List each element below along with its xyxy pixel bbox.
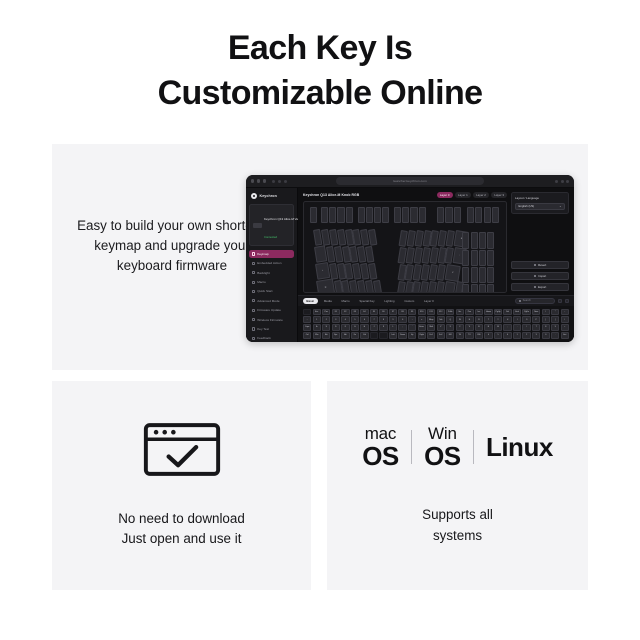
tab-special-key[interactable]: Special Key bbox=[356, 298, 378, 304]
keyboard-thumbnail-icon bbox=[253, 223, 262, 228]
windows-suffix: OS bbox=[424, 443, 461, 469]
palette-key[interactable]: - bbox=[408, 316, 416, 323]
palette-key[interactable]: H bbox=[360, 324, 368, 331]
tab-basic[interactable]: Basic bbox=[303, 298, 318, 304]
palette-key[interactable]: F12 bbox=[437, 309, 445, 316]
browser-url-text: launcher.keychron.com bbox=[393, 179, 427, 183]
badge-divider-1 bbox=[411, 430, 412, 464]
sidebar-item-label: Firmware Update bbox=[257, 308, 281, 312]
palette-key[interactable]: L bbox=[389, 324, 397, 331]
os-support-caption: Supports all systems bbox=[422, 505, 493, 546]
palette-key[interactable]: G bbox=[351, 324, 359, 331]
os-support-line-2: systems bbox=[422, 526, 493, 546]
device-status: Connected bbox=[264, 236, 277, 239]
palette-key[interactable]: 3 bbox=[332, 316, 340, 323]
brand: Keychron bbox=[249, 192, 294, 202]
layer-chip-1[interactable]: Layer 1 bbox=[455, 192, 471, 198]
layout-language-panel: Layout / Language English (US) ⌄ bbox=[511, 192, 569, 214]
keyboard-key[interactable] bbox=[365, 246, 375, 263]
palette-key[interactable]: 4 bbox=[341, 316, 349, 323]
palette-key[interactable]: U bbox=[503, 316, 511, 323]
search-area: Search bbox=[515, 298, 569, 305]
palette-key[interactable]: PgDn bbox=[522, 309, 530, 316]
windows-prefix: Win bbox=[428, 425, 457, 442]
palette-key[interactable]: Up bbox=[408, 332, 416, 339]
palette-key[interactable]: Ctrl bbox=[303, 332, 311, 339]
sidebar-item-label: Advanced Mode bbox=[257, 299, 279, 303]
keyboard-key[interactable] bbox=[368, 263, 378, 280]
export-icon bbox=[534, 286, 536, 288]
palette-key[interactable]: Win bbox=[313, 332, 321, 339]
palette-key[interactable]: A bbox=[313, 324, 321, 331]
palette-key[interactable]: End bbox=[513, 309, 521, 316]
keyboard-key[interactable] bbox=[310, 207, 317, 223]
keyboard-key[interactable] bbox=[471, 250, 478, 266]
palette-key[interactable]: Fn1 bbox=[427, 332, 435, 339]
keyboard-key[interactable] bbox=[368, 229, 378, 246]
browser-titlebar: launcher.keychron.com bbox=[246, 175, 574, 188]
macro-icon bbox=[252, 281, 255, 284]
macos-suffix: OS bbox=[362, 443, 399, 469]
export-label: Export bbox=[538, 285, 546, 289]
palette-key[interactable]: Pse bbox=[465, 309, 473, 316]
export-button[interactable]: Export bbox=[511, 283, 569, 291]
keyboard-key[interactable] bbox=[443, 281, 456, 292]
keyboard-key[interactable] bbox=[382, 207, 389, 223]
palette-key[interactable]: Ent bbox=[561, 332, 569, 339]
layer-chip-0[interactable]: Layer 0 bbox=[437, 192, 453, 198]
sidebar-item-label: Feedback bbox=[257, 336, 271, 340]
keyboard-keys[interactable]: =Q[S;Z bbox=[310, 207, 500, 287]
palette-key[interactable]: - bbox=[561, 309, 569, 316]
palette-key[interactable]: Q bbox=[446, 316, 454, 323]
revert-label: Revert bbox=[538, 263, 546, 267]
layout-language-label: Layout / Language bbox=[515, 196, 565, 200]
keyboard-key[interactable] bbox=[329, 207, 336, 223]
keyboard-key[interactable] bbox=[467, 207, 474, 223]
tab-layer[interactable]: Layer 0 bbox=[421, 298, 437, 304]
wireless-firmware-icon bbox=[252, 318, 255, 321]
palette-key[interactable]: F4 bbox=[360, 309, 368, 316]
keyboard-key[interactable] bbox=[479, 232, 486, 248]
keyboard-key[interactable] bbox=[462, 267, 469, 283]
launcher-sidebar: Keychron Keychron Q13 Alice-M Ver... Con… bbox=[246, 188, 298, 342]
palette-key[interactable]: 8 bbox=[379, 316, 387, 323]
no-download-line-1: No need to download bbox=[118, 509, 245, 529]
inspector-panel: Layout / Language English (US) ⌄ Revert bbox=[511, 192, 569, 293]
palette-key[interactable]: 4 bbox=[484, 332, 492, 339]
keyboard-key[interactable] bbox=[373, 280, 383, 292]
palette-key[interactable]: [ bbox=[542, 316, 550, 323]
keyboard-key[interactable] bbox=[394, 207, 401, 223]
language-select[interactable]: English (US) ⌄ bbox=[515, 203, 565, 210]
palette-key[interactable]: Z bbox=[437, 324, 445, 331]
sidebar-item-label: Quick Start bbox=[257, 289, 272, 293]
sidebar-item-macro[interactable]: Macro bbox=[249, 279, 294, 286]
palette-key[interactable]: X bbox=[446, 324, 454, 331]
badge-divider-2 bbox=[473, 430, 474, 464]
palette-key[interactable]: 7 bbox=[532, 324, 540, 331]
palette-key[interactable]: Ctrl bbox=[360, 332, 368, 339]
palette-key[interactable]: 1 bbox=[313, 316, 321, 323]
sidebar-item-embedded-action[interactable]: Embedded Action bbox=[249, 260, 294, 267]
palette-key[interactable]: OSL bbox=[475, 332, 483, 339]
page-title-line-2: Customizable Online bbox=[0, 71, 640, 116]
browser-window-checkmark-icon bbox=[142, 422, 222, 477]
language-select-value: English (US) bbox=[519, 204, 535, 208]
device-name: Keychron Q13 Alice-M Ver... bbox=[264, 217, 302, 221]
import-icon bbox=[534, 275, 536, 277]
keyboard-key[interactable] bbox=[437, 207, 444, 223]
inspector-actions: Revert Import Export bbox=[511, 261, 569, 293]
palette-key[interactable]: + bbox=[561, 324, 569, 331]
tab-custom[interactable]: Custom bbox=[401, 298, 418, 304]
keyboard-key[interactable] bbox=[487, 284, 494, 293]
page-title: Each Key Is Customizable Online bbox=[0, 26, 640, 116]
palette-key[interactable]: I bbox=[513, 316, 521, 323]
keyboard-key[interactable] bbox=[445, 207, 452, 223]
feedback-icon bbox=[252, 337, 255, 340]
palette-key-empty bbox=[303, 309, 311, 316]
layer-chip-2[interactable]: Layer 2 bbox=[473, 192, 489, 198]
embedded-action-icon bbox=[252, 262, 255, 265]
palette-key[interactable]: S bbox=[322, 324, 330, 331]
palette-key[interactable]: F3 bbox=[351, 309, 359, 316]
palette-key[interactable]: V bbox=[465, 324, 473, 331]
sidebar-item-key-test[interactable]: Key Test bbox=[249, 325, 294, 332]
sidebar-item-backlight[interactable]: Backlight bbox=[249, 269, 294, 276]
launcher-body: Keychron Keychron Q13 Alice-M Ver... Con… bbox=[246, 188, 574, 342]
import-label: Import bbox=[538, 274, 546, 278]
palette-key[interactable]: PgUp bbox=[494, 309, 502, 316]
feature-card-launcher: Easy to build your own shortcut, keymap … bbox=[52, 144, 588, 370]
sidebar-item-label: Wireless Firmware bbox=[257, 318, 283, 322]
keyboard-key[interactable] bbox=[462, 232, 469, 248]
palette-key[interactable]: Right bbox=[418, 332, 426, 339]
palette-key[interactable]: Pwr bbox=[322, 309, 330, 316]
keymap-workspace: Keychron Q13 Alice-M Knob RGB Layer 0 La… bbox=[298, 188, 574, 295]
keyboard-key[interactable] bbox=[479, 267, 486, 283]
palette-key[interactable]: 3 bbox=[532, 332, 540, 339]
palette-key[interactable]: F5 bbox=[370, 309, 378, 316]
palette-key[interactable]: Alt bbox=[341, 332, 349, 339]
tab-media[interactable]: Media bbox=[321, 298, 336, 304]
palette-key[interactable]: . bbox=[513, 324, 521, 331]
keyboard-key[interactable] bbox=[346, 207, 353, 223]
palette-key[interactable]: 5 bbox=[351, 316, 359, 323]
palette-key[interactable]: F2 bbox=[341, 309, 349, 316]
palette-key[interactable]: ] bbox=[551, 316, 559, 323]
palette-key[interactable]: 2 bbox=[322, 316, 330, 323]
keyboard-header: Keychron Q13 Alice-M Knob RGB Layer 0 La… bbox=[303, 192, 507, 198]
os-badges: mac OS Win OS Linux bbox=[362, 425, 553, 469]
palette-key[interactable]: Enter bbox=[418, 324, 426, 331]
connected-device-card[interactable]: Keychron Q13 Alice-M Ver... Connected bbox=[249, 204, 294, 246]
device-meta: Keychron Q13 Alice-M Ver... Connected bbox=[264, 207, 291, 243]
keyboard-key[interactable] bbox=[475, 207, 482, 223]
palette-key[interactable]: K bbox=[379, 324, 387, 331]
keyboard-key[interactable]: Q bbox=[316, 279, 335, 293]
palette-key[interactable]: F9 bbox=[408, 309, 416, 316]
no-download-caption: No need to download Just open and use it bbox=[118, 509, 245, 550]
palette-key[interactable]: Down bbox=[398, 332, 406, 339]
palette-key[interactable]: F6 bbox=[379, 309, 387, 316]
palette-key[interactable]: 9 bbox=[551, 324, 559, 331]
page-title-line-1: Each Key Is bbox=[0, 26, 640, 71]
sidebar-item-label: Macro bbox=[257, 280, 266, 284]
search-placeholder: Search bbox=[523, 299, 531, 302]
key-test-icon bbox=[252, 327, 255, 330]
layer-chip-3[interactable]: Layer 3 bbox=[491, 192, 507, 198]
palette-key[interactable]: Spc bbox=[332, 332, 340, 339]
keyboard-key[interactable] bbox=[358, 207, 365, 223]
keycode-category-tabs: Basic Media Macro Special Key Lighting C… bbox=[298, 295, 574, 307]
palette-key[interactable]: 5 bbox=[494, 332, 502, 339]
palette-key-empty bbox=[370, 332, 378, 339]
palette-key[interactable]: Tab bbox=[437, 316, 445, 323]
sidebar-item-quick-start[interactable]: Quick Start bbox=[249, 288, 294, 295]
palette-key[interactable]: E bbox=[465, 316, 473, 323]
keyboard-key[interactable] bbox=[471, 284, 478, 293]
palette-key[interactable]: PrtSc bbox=[446, 309, 454, 316]
windows-badge: Win OS bbox=[424, 425, 461, 469]
palette-key[interactable]: 9 bbox=[389, 316, 397, 323]
keyboard-key[interactable] bbox=[462, 250, 469, 266]
palette-key[interactable]: 6 bbox=[503, 332, 511, 339]
palette-key[interactable]: Left bbox=[389, 332, 397, 339]
keyboard-key[interactable]: Z bbox=[444, 264, 461, 283]
palette-key[interactable]: 6 bbox=[360, 316, 368, 323]
palette-key[interactable]: Scr bbox=[456, 309, 464, 316]
palette-key[interactable]: C bbox=[456, 324, 464, 331]
palette-key[interactable]: / bbox=[522, 324, 530, 331]
sidebar-item-advanced-mode[interactable]: Advanced Mode bbox=[249, 297, 294, 304]
browser-url-bar[interactable]: launcher.keychron.com bbox=[336, 177, 484, 185]
palette-key[interactable]: 0 bbox=[542, 332, 550, 339]
palette-key[interactable]: . bbox=[551, 332, 559, 339]
keyboard-key[interactable] bbox=[366, 207, 373, 223]
feature-card-no-download: No need to download Just open and use it bbox=[52, 381, 311, 590]
palette-key[interactable]: 7 bbox=[370, 316, 378, 323]
palette-key[interactable]: 2 bbox=[522, 332, 530, 339]
keychron-logo-icon bbox=[251, 193, 257, 199]
palette-key[interactable]: F8 bbox=[398, 309, 406, 316]
palette-key[interactable]: = bbox=[418, 316, 426, 323]
palette-key[interactable]: TG bbox=[456, 332, 464, 339]
palette-key[interactable]: F10 bbox=[418, 309, 426, 316]
palette-key[interactable]: N bbox=[484, 324, 492, 331]
search-icon bbox=[519, 300, 522, 303]
palette-key[interactable]: Shift bbox=[427, 324, 435, 331]
keyboard-model-title: Keychron Q13 Alice-M Knob RGB bbox=[303, 193, 359, 197]
palette-key[interactable]: Fn bbox=[351, 332, 359, 339]
sidebar-item-feedback[interactable]: Feedback bbox=[249, 335, 294, 342]
keyboard-layout-stage[interactable]: =Q[S;Z bbox=[303, 201, 507, 293]
sidebar-item-label: Embedded Action bbox=[257, 261, 281, 265]
sidebar-item-firmware-update[interactable]: Firmware Update bbox=[249, 307, 294, 314]
layer-selector[interactable]: Layer 0 Layer 1 Layer 2 Layer 3 bbox=[437, 192, 507, 198]
palette-key[interactable]: 1 bbox=[513, 332, 521, 339]
palette-key[interactable]: MO bbox=[446, 332, 454, 339]
import-button[interactable]: Import bbox=[511, 272, 569, 280]
palette-key[interactable]: D bbox=[332, 324, 340, 331]
keymap-icon bbox=[252, 252, 255, 255]
keyboard-key[interactable] bbox=[487, 232, 494, 248]
palette-key[interactable]: Esc bbox=[313, 309, 321, 316]
keyboard-key[interactable] bbox=[484, 207, 491, 223]
keyboard-key[interactable] bbox=[479, 250, 486, 266]
palette-key[interactable]: ; bbox=[398, 324, 406, 331]
palette-key[interactable]: Alt bbox=[322, 332, 330, 339]
palette-key[interactable]: \ bbox=[561, 316, 569, 323]
palette-key[interactable]: M bbox=[494, 324, 502, 331]
backlight-icon bbox=[252, 271, 255, 274]
keyboard-key[interactable] bbox=[471, 232, 478, 248]
brand-label: Keychron bbox=[260, 194, 277, 198]
palette-key[interactable]: Caps bbox=[303, 324, 311, 331]
keyboard-key[interactable] bbox=[487, 267, 494, 283]
palette-key[interactable]: W bbox=[456, 316, 464, 323]
palette-key[interactable]: ~ bbox=[303, 316, 311, 323]
keyboard-key[interactable] bbox=[471, 267, 478, 283]
palette-key[interactable]: Fn2 bbox=[437, 332, 445, 339]
palette-key[interactable]: Home bbox=[484, 309, 492, 316]
palette-key[interactable]: O bbox=[522, 316, 530, 323]
palette-key[interactable]: B bbox=[475, 324, 483, 331]
sidebar-item-label: Backlight bbox=[257, 271, 270, 275]
os-support-line-1: Supports all bbox=[422, 505, 493, 525]
keyboard-key[interactable] bbox=[492, 207, 499, 223]
palette-key[interactable]: J bbox=[370, 324, 378, 331]
palette-key[interactable]: 8 bbox=[542, 324, 550, 331]
sidebar-item-label: Keymap bbox=[257, 252, 268, 256]
palette-key[interactable]: Del bbox=[503, 309, 511, 316]
keyboard-key[interactable] bbox=[337, 207, 344, 223]
keychron-launcher-screenshot: launcher.keychron.com Keychron Keychron … bbox=[246, 175, 574, 342]
launcher-main: Keychron Q13 Alice-M Knob RGB Layer 0 La… bbox=[298, 188, 574, 342]
sidebar-item-label: Key Test bbox=[257, 327, 269, 331]
palette-key[interactable]: Y bbox=[494, 316, 502, 323]
browser-window-controls-icon[interactable] bbox=[555, 180, 569, 183]
feature-card-os-support: mac OS Win OS Linux Supports all systems bbox=[327, 381, 588, 590]
linux-badge: Linux bbox=[486, 432, 553, 463]
sidebar-item-wireless-firmware[interactable]: Wireless Firmware bbox=[249, 316, 294, 323]
palette-key[interactable]: T bbox=[484, 316, 492, 323]
traffic-lights-icon[interactable] bbox=[251, 179, 266, 182]
zoom-icon[interactable] bbox=[565, 299, 570, 304]
palette-key[interactable]: TO bbox=[465, 332, 473, 339]
keyboard-key[interactable] bbox=[487, 250, 494, 266]
keyboard-key[interactable] bbox=[454, 207, 461, 223]
macos-badge: mac OS bbox=[362, 425, 399, 469]
keyboard-key[interactable] bbox=[462, 284, 469, 293]
tab-lighting[interactable]: Lighting bbox=[381, 298, 398, 304]
sidebar-item-keymap[interactable]: Keymap bbox=[249, 250, 294, 257]
browser-nav-icons[interactable] bbox=[272, 180, 287, 183]
palette-key[interactable]: Num bbox=[532, 309, 540, 316]
macos-prefix: mac bbox=[365, 425, 397, 442]
keycode-palette[interactable]: EscPwrF1F2F3F4F5F6F7F8F9F10F11F12PrtScSc… bbox=[298, 306, 574, 342]
keyboard-key[interactable] bbox=[402, 207, 409, 223]
keyboard-icon[interactable] bbox=[558, 299, 563, 304]
quick-start-icon bbox=[252, 290, 255, 293]
advanced-mode-icon bbox=[252, 299, 255, 302]
palette-key[interactable]: , bbox=[503, 324, 511, 331]
revert-icon bbox=[534, 264, 536, 266]
palette-key[interactable]: F bbox=[341, 324, 349, 331]
palette-key[interactable]: ' bbox=[408, 324, 416, 331]
palette-key[interactable]: R bbox=[475, 316, 483, 323]
keyboard-key[interactable] bbox=[321, 207, 328, 223]
palette-key[interactable]: P bbox=[532, 316, 540, 323]
revert-button[interactable]: Revert bbox=[511, 261, 569, 269]
firmware-update-icon bbox=[252, 309, 255, 312]
palette-key[interactable]: Ins bbox=[475, 309, 483, 316]
palette-key[interactable]: / bbox=[542, 309, 550, 316]
palette-key[interactable]: F1 bbox=[332, 309, 340, 316]
promo-page: Each Key Is Customizable Online Easy to … bbox=[0, 0, 640, 640]
keyboard-key[interactable] bbox=[410, 207, 417, 223]
palette-key[interactable]: * bbox=[551, 309, 559, 316]
tab-macro[interactable]: Macro bbox=[338, 298, 353, 304]
chevron-down-icon: ⌄ bbox=[559, 204, 561, 208]
palette-key[interactable]: 0 bbox=[398, 316, 406, 323]
palette-key[interactable]: F11 bbox=[427, 309, 435, 316]
search-input[interactable]: Search bbox=[515, 298, 555, 305]
palette-key[interactable]: Bksp bbox=[427, 316, 435, 323]
keyboard-column: Keychron Q13 Alice-M Knob RGB Layer 0 La… bbox=[303, 192, 507, 293]
palette-key-empty bbox=[379, 332, 387, 339]
no-download-line-2: Just open and use it bbox=[118, 529, 245, 549]
keyboard-key[interactable] bbox=[479, 284, 486, 293]
keyboard-key[interactable] bbox=[374, 207, 381, 223]
palette-key[interactable]: F7 bbox=[389, 309, 397, 316]
keyboard-key[interactable] bbox=[419, 207, 426, 223]
